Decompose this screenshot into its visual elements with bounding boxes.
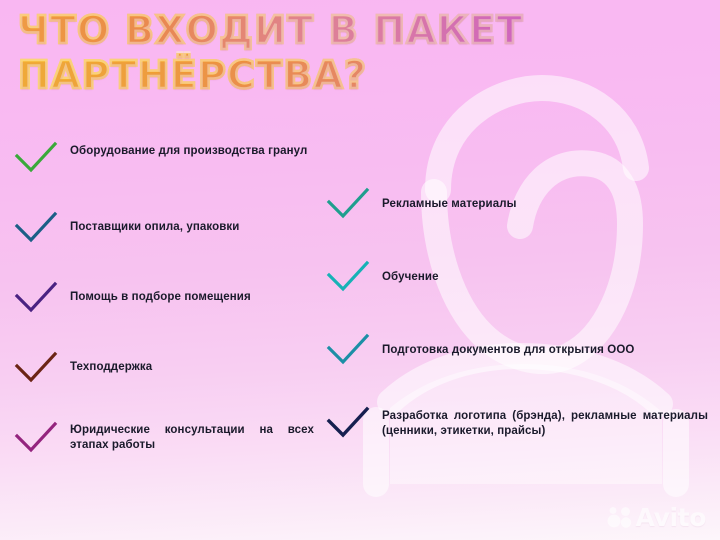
checkmark-icon [326,259,370,295]
checkmark-icon [326,332,370,368]
list-item: Обучение [326,259,708,332]
avito-wordmark: Avito [636,505,706,530]
list-item: Юридические консультации на всех этапах … [14,420,314,490]
checkmark-icon [326,186,370,222]
list-item-label: Обучение [382,259,439,285]
list-item: Помощь в подборе помещения [14,280,314,350]
list-item-label: Поставщики опила, упаковки [70,210,239,235]
list-item-label: Разработка логотипа (брэнда), рекламные … [382,405,708,438]
list-item-label: Юридические консультации на всех этапах … [70,420,314,452]
poster-canvas: ЧТО ВХОДИТ В ПАКЕТ ПАРТНЁРСТВА? Оборудов… [0,0,720,540]
list-item-label: Помощь в подборе помещения [70,280,251,305]
avito-dots-icon [607,506,633,530]
avito-watermark: Avito [607,505,706,530]
list-item-label: Рекламные материалы [382,186,517,212]
page-title: ЧТО ВХОДИТ В ПАКЕТ ПАРТНЁРСТВА? [18,8,678,98]
benefits-left-column: Оборудование для производства гранул Пос… [14,140,314,490]
list-item: Подготовка документов для открытия ООО [326,332,708,405]
title-line-1: ЧТО ВХОДИТ В ПАКЕТ [18,8,678,53]
list-item: Оборудование для производства гранул [14,140,314,210]
list-item: Рекламные материалы [326,186,708,259]
checkmark-icon [14,420,58,456]
checkmark-icon [14,140,58,176]
title-line-2: ПАРТНЁРСТВА? [18,53,678,98]
checkmark-icon [14,350,58,386]
checkmark-icon [14,210,58,246]
list-item-label: Оборудование для производства гранул [70,140,307,159]
checkmark-icon [14,280,58,316]
list-item: Разработка логотипа (брэнда), рекламные … [326,405,708,478]
checkmark-icon [326,405,370,441]
list-item-label: Подготовка документов для открытия ООО [382,332,634,358]
benefits-right-column: Рекламные материалы Обучение Подготовка … [326,186,708,478]
list-item: Поставщики опила, упаковки [14,210,314,280]
list-item-label: Техподдержка [70,350,152,375]
list-item: Техподдержка [14,350,314,420]
